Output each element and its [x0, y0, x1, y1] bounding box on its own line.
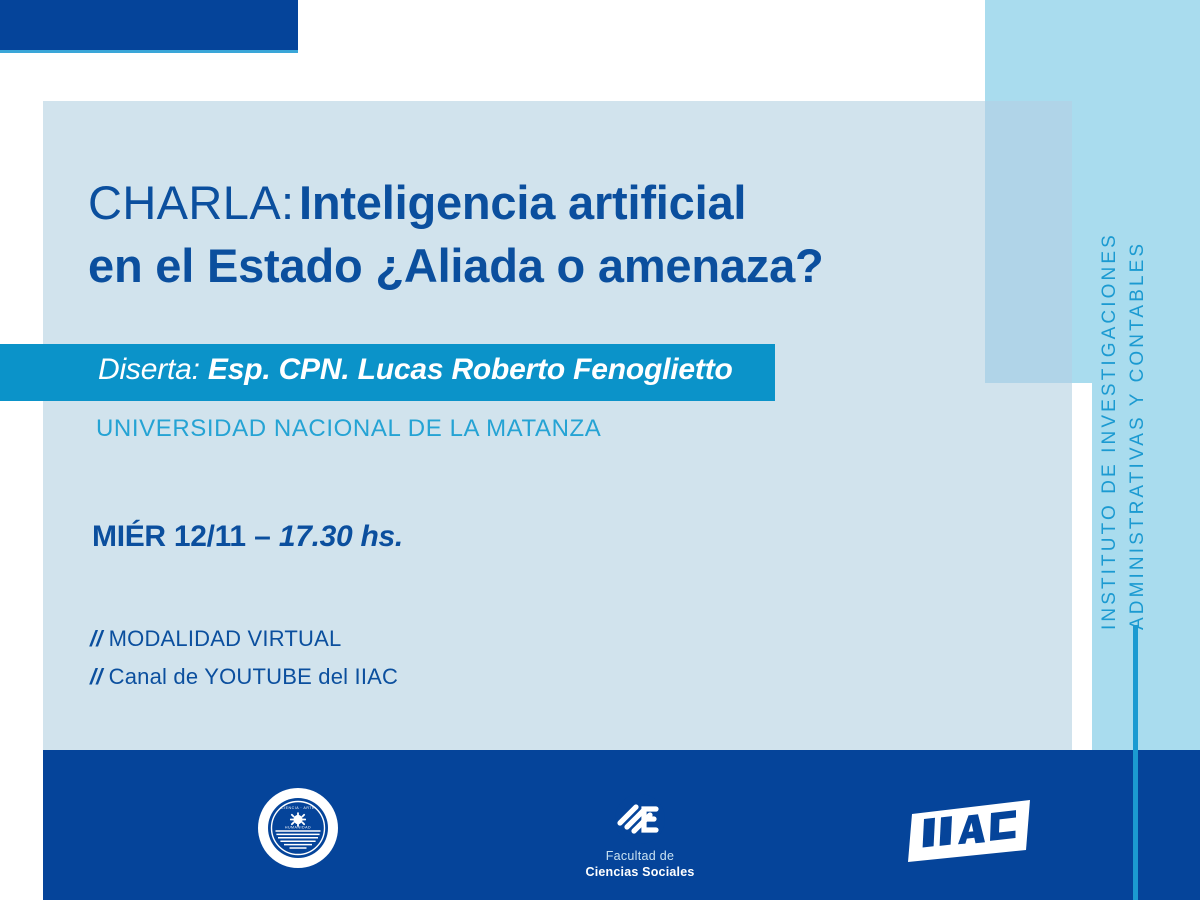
event-schedule: MIÉR 12/11 – 17.30 hs.: [92, 520, 403, 554]
institute-vertical-text: INSTITUTO DE INVESTIGACIONES ADMINISTRAT…: [1085, 90, 1200, 630]
panel-overlap-tint: [985, 101, 1072, 383]
event-poster: INSTITUTO DE INVESTIGACIONES ADMINISTRAT…: [0, 0, 1200, 900]
svg-text:CIENCIA · ARTE: CIENCIA · ARTE: [281, 806, 315, 810]
headline-line-2: en el Estado ¿Aliada o amenaza?: [88, 241, 988, 290]
institute-line-1: INSTITUTO DE INVESTIGACIONES: [1100, 232, 1119, 630]
slash-bullet-icon: //: [90, 626, 103, 651]
unlam-seal-logo: CIENCIA · ARTE HUMANIDAD: [258, 788, 338, 868]
headline-line-1: CHARLA: Inteligencia artificial: [88, 178, 988, 227]
event-time: 17.30 hs.: [279, 520, 403, 553]
event-day: MIÉR 12/11: [92, 520, 246, 553]
modality-item-1-label: Canal de YOUTUBE del IIAC: [109, 664, 399, 689]
speaker-affiliation: UNIVERSIDAD NACIONAL DE LA MATANZA: [96, 415, 601, 443]
iiac-logo: [908, 800, 1036, 862]
facultad-circular-icon: [614, 793, 666, 845]
speaker-text: Diserta: Esp. CPN. Lucas Roberto Fenogli…: [98, 353, 733, 387]
headline-prefix: CHARLA:: [88, 176, 295, 229]
slash-bullet-icon: //: [90, 664, 103, 689]
top-blue-bar: [0, 0, 298, 53]
modality-item-0-label: MODALIDAD VIRTUAL: [109, 626, 342, 651]
schedule-separator: –: [254, 520, 270, 553]
svg-text:HUMANIDAD: HUMANIDAD: [285, 826, 311, 830]
facultad-ciencias-sociales-logo: Facultad de Ciencias Sociales: [565, 793, 715, 873]
unlam-seal-icon: CIENCIA · ARTE HUMANIDAD: [268, 798, 328, 858]
facultad-line-1: Facultad de: [565, 849, 715, 863]
modality-item-virtual: //MODALIDAD VIRTUAL: [90, 626, 398, 652]
institute-line-2: ADMINISTRATIVAS Y CONTABLES: [1128, 241, 1147, 630]
poster-headline: CHARLA: Inteligencia artificial en el Es…: [88, 178, 988, 291]
headline-title-part-1: Inteligencia artificial: [299, 176, 746, 229]
speaker-label: Diserta:: [98, 353, 200, 386]
headline-title-part-2: en el Estado ¿Aliada o amenaza?: [88, 239, 824, 292]
seal-inner-disc: CIENCIA · ARTE HUMANIDAD: [268, 798, 328, 858]
facultad-line-2: Ciencias Sociales: [565, 865, 715, 879]
modality-item-youtube: //Canal de YOUTUBE del IIAC: [90, 664, 398, 690]
modality-list: //MODALIDAD VIRTUAL //Canal de YOUTUBE d…: [90, 626, 398, 702]
iiac-logo-icon: [908, 800, 1036, 862]
vertical-accent-rule: [1133, 625, 1138, 900]
speaker-name: Esp. CPN. Lucas Roberto Fenoglietto: [208, 353, 733, 386]
